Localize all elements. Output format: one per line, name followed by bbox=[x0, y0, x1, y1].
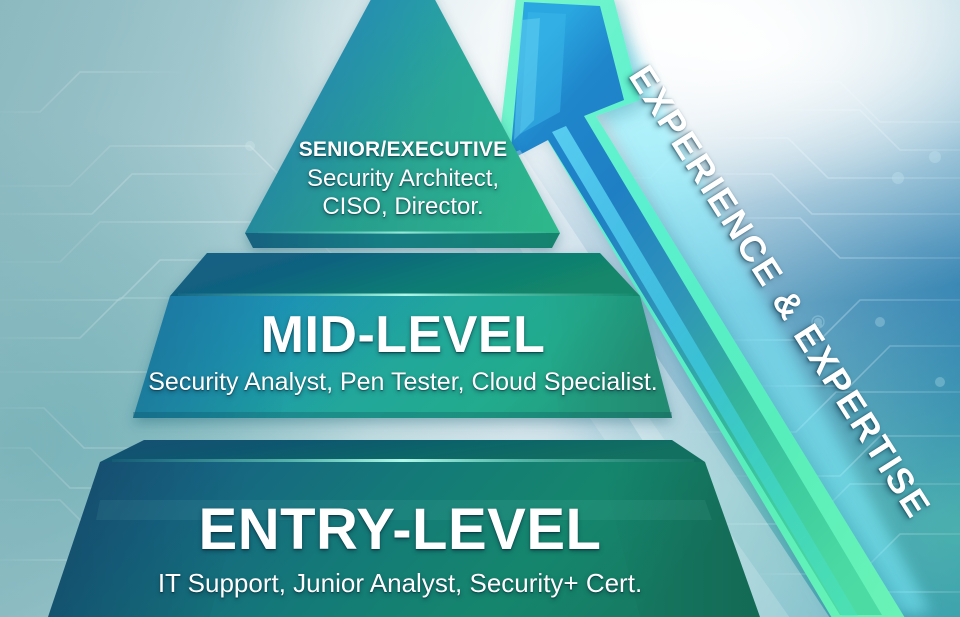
tier-title-entry: ENTRY-LEVEL bbox=[80, 498, 720, 563]
tier-subtitle-senior-line2: CISO, Director. bbox=[245, 193, 561, 221]
tier-label-entry: ENTRY-LEVEL IT Support, Junior Analyst, … bbox=[80, 498, 720, 598]
infographic-canvas: SENIOR/EXECUTIVE Security Architect, CIS… bbox=[0, 0, 960, 617]
tier-label-mid: MID-LEVEL Security Analyst, Pen Tester, … bbox=[133, 306, 673, 396]
tier-subtitle-senior-line1: Security Architect, bbox=[245, 165, 561, 193]
tier-subtitle-mid: Security Analyst, Pen Tester, Cloud Spec… bbox=[133, 368, 673, 396]
tier-title-senior: SENIOR/EXECUTIVE bbox=[245, 138, 561, 162]
tier-label-senior: SENIOR/EXECUTIVE Security Architect, CIS… bbox=[245, 138, 561, 221]
tier-title-mid: MID-LEVEL bbox=[133, 306, 673, 364]
tier-subtitle-entry: IT Support, Junior Analyst, Security+ Ce… bbox=[80, 569, 720, 598]
